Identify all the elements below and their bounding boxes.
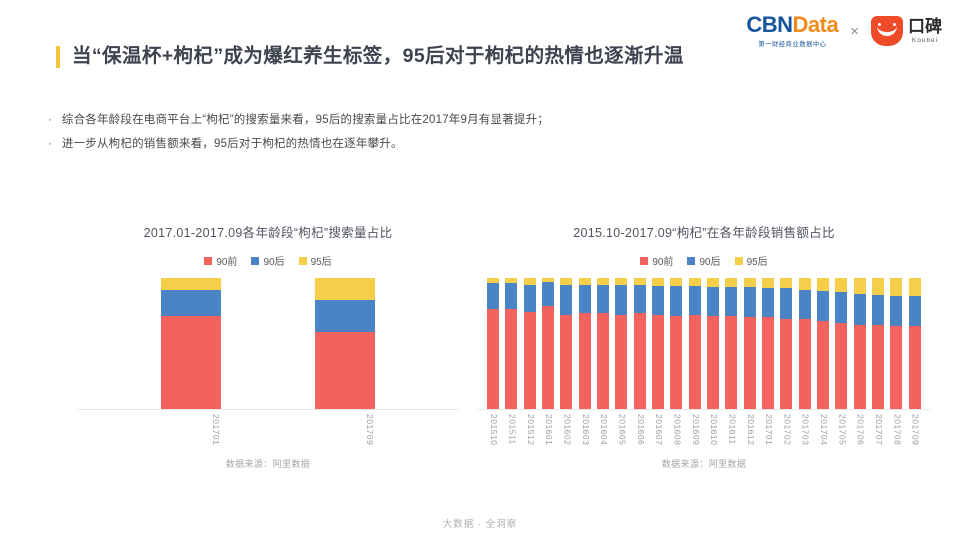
x-axis-label: 201511 (505, 414, 517, 445)
stacked-bar (762, 278, 774, 409)
legend-label: 90前 (652, 253, 673, 268)
chart-x-axis: 201701201709 (78, 414, 458, 445)
bar-segment-90qian (689, 315, 701, 409)
koubei-logo: 口碑 Koubei (871, 16, 942, 46)
bar-segment-90qian (542, 306, 554, 409)
bar-segment-90hou (854, 294, 866, 325)
bar-segment-95hou (817, 278, 829, 291)
bar-segment-95hou (670, 278, 682, 286)
koubei-text: 口碑 Koubei (908, 18, 942, 44)
koubei-smile-icon (871, 16, 903, 46)
x-axis-label: 201611 (725, 414, 737, 445)
x-axis-label: 201608 (670, 414, 682, 445)
stacked-bar (542, 278, 554, 409)
chart-legend: 90前 90后 95后 (478, 253, 930, 268)
bar-segment-90qian (487, 309, 499, 409)
cbndata-wordmark: CBNData (746, 14, 838, 36)
bar-segment-95hou (762, 278, 774, 288)
bar-segment-95hou (744, 278, 756, 287)
stacked-bar (689, 278, 701, 409)
bar-column (597, 278, 609, 409)
x-axis-label: 201706 (854, 414, 866, 445)
x-axis-label: 201510 (487, 414, 499, 445)
bar-column (890, 278, 902, 409)
bar-segment-90qian (315, 332, 375, 409)
x-axis-label: 201610 (707, 414, 719, 445)
bar-segment-95hou (315, 278, 375, 300)
bar-segment-90hou (634, 285, 646, 314)
legend-item: 90前 (204, 253, 237, 268)
bar-column (707, 278, 719, 409)
legend-label: 95后 (747, 253, 768, 268)
bar-segment-90hou (872, 295, 884, 325)
bar-segment-90qian (707, 316, 719, 409)
bar-segment-90hou (780, 288, 792, 318)
bar-segment-90hou (505, 283, 517, 309)
bar-segment-90hou (161, 290, 221, 316)
bar-segment-90hou (670, 286, 682, 316)
bar-segment-90qian (799, 319, 811, 409)
bar-segment-90qian (652, 315, 664, 409)
x-axis-label: 201701 (762, 414, 774, 445)
bar-segment-90hou (315, 300, 375, 331)
x-axis-label: 201512 (524, 414, 536, 445)
x-axis-label: 201704 (817, 414, 829, 445)
chart-title: 2015.10-2017.09“枸杞”在各年龄段销售额占比 (478, 222, 930, 241)
stacked-bar (780, 278, 792, 409)
stacked-bar (890, 278, 902, 409)
bar-column (762, 278, 774, 409)
legend-item: 90后 (687, 253, 720, 268)
bar-column (652, 278, 664, 409)
legend-swatch-90qian (640, 257, 648, 265)
bar-column (725, 278, 737, 409)
bullet-text: 进一步从枸杞的销售额来看，95后对于枸杞的热情也在逐年攀升。 (62, 136, 403, 154)
bar-column (909, 278, 921, 409)
x-axis-label: 201603 (579, 414, 591, 445)
bar-segment-95hou (890, 278, 902, 296)
bar-column (780, 278, 792, 409)
page-title: 当“保温杯+枸杞”成为爆红养生标签，95后对于枸杞的热情也逐渐升温 (56, 42, 716, 70)
bar-segment-90qian (524, 312, 536, 409)
stacked-bar (744, 278, 756, 409)
bar-segment-90hou (560, 285, 572, 315)
stacked-bar (799, 278, 811, 409)
stacked-bar (597, 278, 609, 409)
cbndata-logo: CBNData 第一财经商业数据中心 (746, 14, 838, 48)
bar-segment-90hou (615, 285, 627, 315)
bar-segment-90hou (579, 285, 591, 314)
bar-segment-95hou (161, 278, 221, 290)
chart-plot-area (478, 278, 930, 410)
bar-segment-90qian (560, 315, 572, 409)
bar-segment-90hou (487, 283, 499, 309)
bar-column (487, 278, 499, 409)
cbndata-wordmark-cbn: CBN (746, 12, 792, 37)
koubei-name-cn: 口碑 (908, 18, 942, 35)
bullet-list: · 综合各年龄段在电商平台上“枸杞”的搜索量来看，95后的搜索量占比在2017年… (48, 112, 848, 160)
bar-segment-90qian (505, 309, 517, 409)
x-axis-label: 201707 (872, 414, 884, 445)
chart-x-axis: 2015102015112015122016012016022016032016… (478, 414, 930, 445)
bar-segment-95hou (909, 278, 921, 296)
bar-column (872, 278, 884, 409)
stacked-bar (634, 278, 646, 409)
legend-item: 90后 (251, 253, 284, 268)
bar-column (615, 278, 627, 409)
stacked-bar (615, 278, 627, 409)
bar-column (579, 278, 591, 409)
chart-plot-area (78, 278, 458, 410)
bar-segment-90qian (780, 319, 792, 409)
bar-segment-90hou (652, 286, 664, 315)
title-text: 当“保温杯+枸杞”成为爆红养生标签，95后对于枸杞的热情也逐渐升温 (72, 42, 684, 70)
x-axis-label: 201708 (890, 414, 902, 445)
legend-label: 90后 (699, 253, 720, 268)
chart-source-label: 数据来源：阿里数据 (478, 457, 930, 470)
stacked-bar (487, 278, 499, 409)
legend-label: 90后 (263, 253, 284, 268)
legend-swatch-90qian (204, 257, 212, 265)
bar-segment-90hou (799, 290, 811, 319)
bar-column (542, 278, 554, 409)
bar-segment-90qian (161, 316, 221, 409)
bar-segment-90qian (909, 326, 921, 409)
bar-segment-90qian (872, 325, 884, 409)
stacked-bar (854, 278, 866, 409)
bar-column (315, 278, 375, 409)
bar-segment-90hou (817, 291, 829, 321)
x-axis-label: 201701 (161, 414, 221, 445)
x-axis-label: 201605 (615, 414, 627, 445)
bar-segment-95hou (780, 278, 792, 288)
bar-segment-90qian (835, 323, 847, 409)
x-axis-label: 201612 (744, 414, 756, 445)
bar-segment-90hou (597, 285, 609, 314)
bar-column (670, 278, 682, 409)
logo-separator-icon: × (848, 23, 861, 40)
x-axis-label: 201601 (542, 414, 554, 445)
bar-segment-90qian (634, 313, 646, 409)
bar-segment-90qian (670, 316, 682, 409)
x-axis-label: 201602 (560, 414, 572, 445)
bar-column (524, 278, 536, 409)
koubei-mouth-icon (877, 24, 897, 36)
bar-segment-90qian (725, 316, 737, 409)
bullet-marker-icon: · (48, 112, 52, 129)
bar-segment-95hou (854, 278, 866, 294)
bar-segment-90hou (890, 296, 902, 326)
chart-source-label: 数据来源：阿里数据 (78, 457, 458, 470)
brand-logo-bar: CBNData 第一财经商业数据中心 × 口碑 Koubei (746, 14, 942, 48)
legend-item: 90前 (640, 253, 673, 268)
legend-item: 95后 (735, 253, 768, 268)
stacked-bar (817, 278, 829, 409)
bar-segment-90hou (689, 286, 701, 315)
bar-segment-90qian (615, 315, 627, 409)
koubei-name-en: Koubei (912, 37, 938, 44)
bar-segment-90qian (890, 326, 902, 409)
bullet-text: 综合各年龄段在电商平台上“枸杞”的搜索量来看，95后的搜索量占比在2017年9月… (62, 112, 549, 130)
legend-swatch-95hou (299, 257, 307, 265)
bar-segment-90qian (744, 317, 756, 409)
bar-column (560, 278, 572, 409)
legend-item: 95后 (299, 253, 332, 268)
chart-search-share: 2017.01-2017.09各年龄段“枸杞”搜索量占比 90前 90后 95后… (78, 222, 458, 470)
bar-segment-95hou (652, 278, 664, 286)
stacked-bar (524, 278, 536, 409)
bar-segment-90hou (707, 287, 719, 316)
cbndata-subtitle: 第一财经商业数据中心 (758, 38, 826, 48)
chart-sales-share: 2015.10-2017.09“枸杞”在各年龄段销售额占比 90前 90后 95… (478, 222, 930, 470)
legend-swatch-90hou (687, 257, 695, 265)
x-axis-label: 201709 (909, 414, 921, 445)
bar-segment-90qian (579, 313, 591, 409)
bullet-marker-icon: · (48, 136, 52, 153)
bar-segment-95hou (835, 278, 847, 292)
bar-column (744, 278, 756, 409)
bar-segment-90qian (762, 317, 774, 409)
stacked-bar (909, 278, 921, 409)
cbndata-wordmark-data: Data (793, 12, 839, 37)
bar-segment-90hou (725, 287, 737, 316)
x-axis-label: 201609 (689, 414, 701, 445)
bar-segment-90hou (744, 287, 756, 317)
bar-segment-90hou (542, 282, 554, 306)
x-axis-label: 201709 (315, 414, 375, 445)
chart-title: 2017.01-2017.09各年龄段“枸杞”搜索量占比 (78, 222, 458, 241)
bar-segment-95hou (872, 278, 884, 295)
bar-column (689, 278, 701, 409)
slide-root: CBNData 第一财经商业数据中心 × 口碑 Koubei 当“保温杯+枸杞”… (0, 0, 960, 540)
bar-column (854, 278, 866, 409)
legend-swatch-90hou (251, 257, 259, 265)
bar-segment-90qian (854, 325, 866, 409)
bar-column (835, 278, 847, 409)
stacked-bar (835, 278, 847, 409)
bar-segment-90hou (762, 288, 774, 317)
legend-swatch-95hou (735, 257, 743, 265)
stacked-bar (670, 278, 682, 409)
bar-segment-90qian (817, 321, 829, 409)
x-axis-label: 201705 (835, 414, 847, 445)
title-accent-bar (56, 46, 60, 68)
chart-legend: 90前 90后 95后 (78, 253, 458, 268)
stacked-bar (579, 278, 591, 409)
bar-segment-95hou (725, 278, 737, 287)
bar-segment-90hou (835, 292, 847, 322)
bar-column (799, 278, 811, 409)
legend-label: 90前 (216, 253, 237, 268)
stacked-bar (315, 278, 375, 409)
bar-column (161, 278, 221, 409)
bar-segment-90hou (524, 285, 536, 313)
stacked-bar (505, 278, 517, 409)
slide-footer: 大数据 · 全洞察 (0, 516, 960, 530)
bar-segment-95hou (799, 278, 811, 290)
bar-segment-95hou (707, 278, 719, 287)
bar-segment-95hou (689, 278, 701, 286)
stacked-bar (725, 278, 737, 409)
list-item: · 进一步从枸杞的销售额来看，95后对于枸杞的热情也在逐年攀升。 (48, 136, 848, 154)
x-axis-label: 201606 (634, 414, 646, 445)
x-axis-label: 201703 (799, 414, 811, 445)
stacked-bar (652, 278, 664, 409)
bar-column (817, 278, 829, 409)
legend-label: 95后 (311, 253, 332, 268)
stacked-bar (707, 278, 719, 409)
bar-column (505, 278, 517, 409)
stacked-bar (161, 278, 221, 409)
bar-segment-90hou (909, 296, 921, 326)
stacked-bar (872, 278, 884, 409)
bar-segment-90qian (597, 313, 609, 409)
list-item: · 综合各年龄段在电商平台上“枸杞”的搜索量来看，95后的搜索量占比在2017年… (48, 112, 848, 130)
stacked-bar (560, 278, 572, 409)
x-axis-label: 201702 (780, 414, 792, 445)
x-axis-label: 201604 (597, 414, 609, 445)
bar-column (634, 278, 646, 409)
x-axis-label: 201607 (652, 414, 664, 445)
